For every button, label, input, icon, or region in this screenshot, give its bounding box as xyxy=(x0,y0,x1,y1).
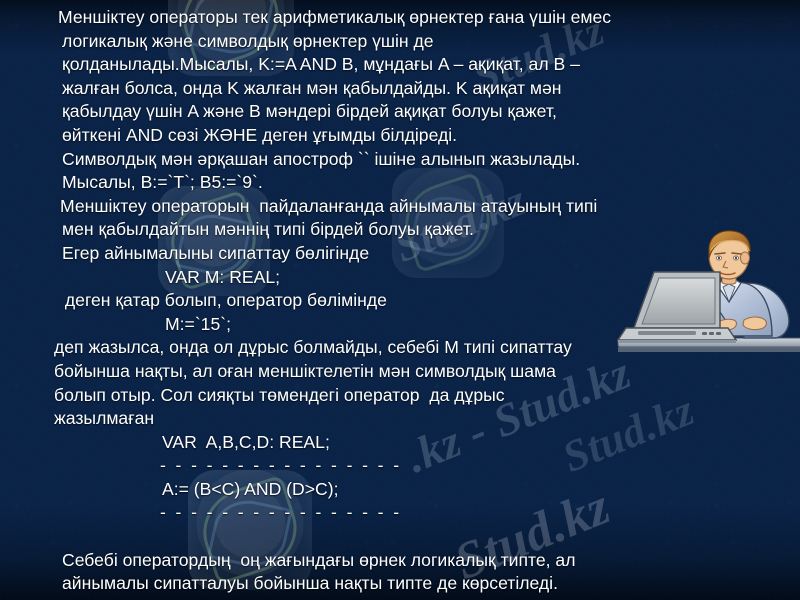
slide-text-line: Символдық мән әрқашан апостроф `` ішіне … xyxy=(0,148,800,172)
slide-text-line: - - - - - - - - - - - - - - - - xyxy=(0,454,800,478)
man-working-on-laptop-illustration xyxy=(616,228,800,374)
slide-text-line: жалған болса, онда K жалған мән қабылдай… xyxy=(0,77,800,101)
slide-text-line: Мысалы, B:=`T`; B5:=`9`. xyxy=(0,171,800,195)
slide-text-line: - - - - - - - - - - - - - - - - xyxy=(0,501,800,525)
slide-text-line: Меншіктеу операторын пайдаланғанда айным… xyxy=(0,195,800,219)
slide-text-line: өйткені AND сөзі ЖӘНЕ деген ұғымды білді… xyxy=(0,124,800,148)
slide-text-line: VAR A,B,C,D: REAL; xyxy=(0,431,800,455)
slide-text-line xyxy=(0,525,800,549)
slide-text-line: Себебі оператордың оң жағындағы өрнек ло… xyxy=(0,549,800,573)
slide-text-line: жазылмаған xyxy=(0,407,800,431)
slide-text-line: қолданылады.Мысалы, K:=A AND B, мұндағы … xyxy=(0,53,800,77)
slide-text-line: қабылдау үшін A және B мәндері бірдей ақ… xyxy=(0,100,800,124)
slide-text-line: логикалық және символдық өрнектер үшін д… xyxy=(0,30,800,54)
slide-text-line: A:= (B<C) AND (D>C); xyxy=(0,478,800,502)
slide-text-line: Меншіктеу операторы тек арифметикалық өр… xyxy=(0,6,800,30)
presentation-slide: Stud.kz Stud.kz .kz - Stud.kz Stud.kz St… xyxy=(0,0,800,600)
slide-text-line: болып отыр. Сол сияқты төмендегі операто… xyxy=(0,384,800,408)
slide-text-line: айнымалы сипатталуы бойынша нақты типте … xyxy=(0,572,800,596)
